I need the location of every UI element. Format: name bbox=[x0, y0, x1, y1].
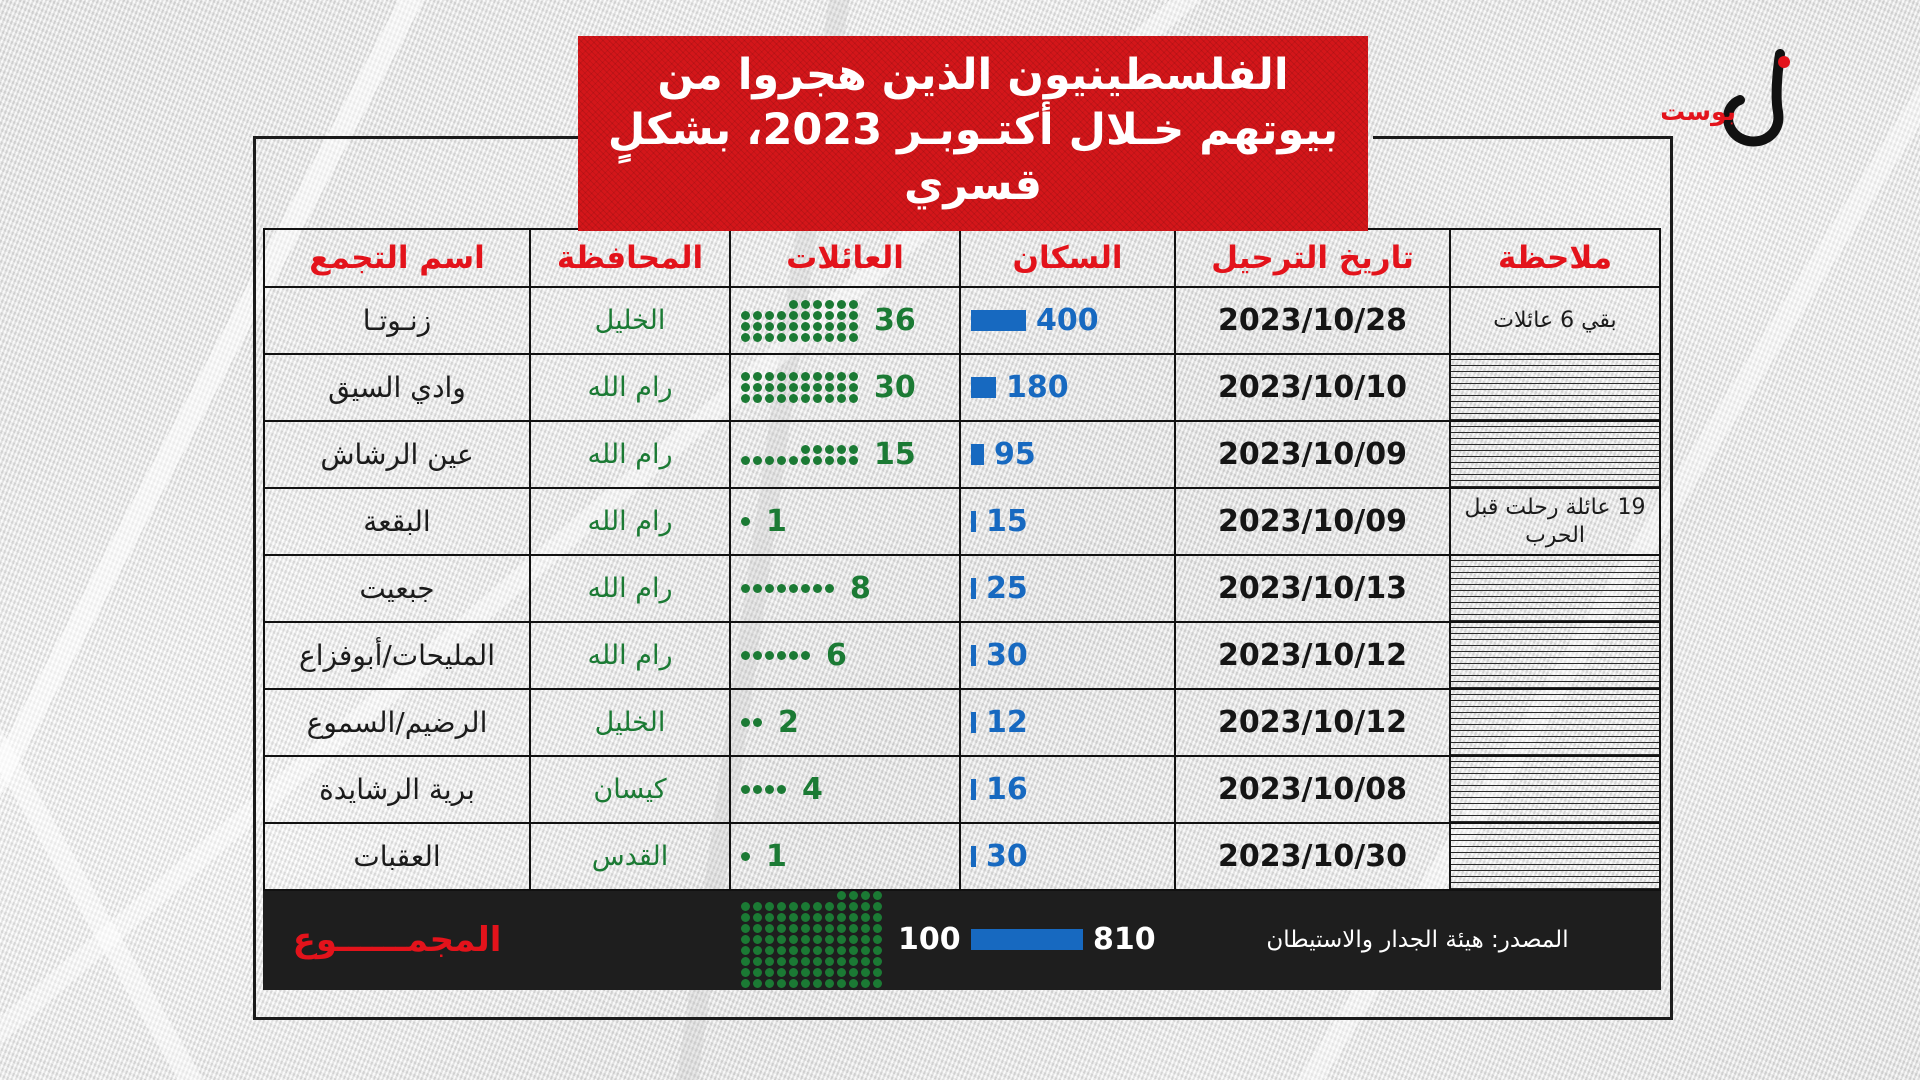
family-dot bbox=[813, 584, 822, 593]
cell-population: 95 bbox=[960, 421, 1175, 488]
cell-population: 30 bbox=[960, 823, 1175, 890]
family-dot bbox=[873, 957, 882, 966]
table-head: ملاحظة تاريخ الترحيل السكان العائلات الم… bbox=[264, 229, 1660, 287]
family-dot bbox=[849, 935, 858, 944]
table-row: 2023/10/1018030رام اللهوادي السيق bbox=[264, 354, 1660, 421]
cell-population: 180 bbox=[960, 354, 1175, 421]
family-dot bbox=[813, 456, 822, 465]
family-dot bbox=[825, 322, 834, 331]
family-dot bbox=[849, 957, 858, 966]
family-dot bbox=[753, 968, 762, 977]
cell-governorate: رام الله bbox=[530, 555, 730, 622]
cell-date: 2023/10/09 bbox=[1175, 421, 1450, 488]
family-dot bbox=[765, 322, 774, 331]
family-dot bbox=[789, 383, 798, 392]
dot-row bbox=[741, 902, 882, 911]
family-dot bbox=[861, 946, 870, 955]
family-dot bbox=[765, 957, 774, 966]
cell-families: 2 bbox=[730, 689, 960, 756]
cell-governorate: الخليل bbox=[530, 689, 730, 756]
family-dot bbox=[741, 517, 750, 526]
family-dot bbox=[789, 957, 798, 966]
family-dot bbox=[861, 913, 870, 922]
family-dot bbox=[825, 957, 834, 966]
family-dot bbox=[753, 383, 762, 392]
family-dot bbox=[873, 913, 882, 922]
family-dot bbox=[789, 913, 798, 922]
population-value: 12 bbox=[986, 705, 1040, 740]
cell-date: 2023/10/12 bbox=[1175, 622, 1450, 689]
cell-population: 30 bbox=[960, 622, 1175, 689]
cell-note bbox=[1450, 689, 1660, 756]
cell-governorate: رام الله bbox=[530, 354, 730, 421]
cell-note bbox=[1450, 354, 1660, 421]
family-dot bbox=[765, 333, 774, 342]
family-dot bbox=[873, 924, 882, 933]
families-dot-matrix bbox=[741, 300, 858, 342]
families-value: 30 bbox=[874, 370, 916, 405]
family-dot bbox=[825, 902, 834, 911]
family-dot bbox=[741, 957, 750, 966]
family-dot bbox=[741, 902, 750, 911]
table-row: 2023/10/12306رام اللهالمليحات/أبوفزاع bbox=[264, 622, 1660, 689]
family-dot bbox=[837, 394, 846, 403]
family-dot bbox=[741, 311, 750, 320]
dot-row bbox=[741, 913, 882, 922]
family-dot bbox=[837, 979, 846, 988]
family-dot bbox=[753, 913, 762, 922]
family-dot bbox=[849, 383, 858, 392]
family-dot bbox=[765, 383, 774, 392]
column-header-population: السكان bbox=[960, 229, 1175, 287]
family-dot bbox=[789, 456, 798, 465]
dot-row bbox=[741, 718, 762, 727]
population-bar bbox=[971, 846, 976, 867]
column-header-note: ملاحظة bbox=[1450, 229, 1660, 287]
family-dot bbox=[777, 913, 786, 922]
family-dot bbox=[837, 968, 846, 977]
column-header-locality: اسم التجمع bbox=[264, 229, 530, 287]
cell-governorate: رام الله bbox=[530, 421, 730, 488]
cell-governorate: الخليل bbox=[530, 287, 730, 354]
logo-word: بوست bbox=[1662, 97, 1736, 127]
family-dot bbox=[789, 333, 798, 342]
dot-row bbox=[741, 935, 882, 944]
cell-note: 19 عائلة رحلت قبل الحرب bbox=[1450, 488, 1660, 555]
cell-date: 2023/10/13 bbox=[1175, 555, 1450, 622]
family-dot bbox=[861, 957, 870, 966]
cell-families: 30 bbox=[730, 354, 960, 421]
family-dot bbox=[765, 935, 774, 944]
family-dot bbox=[825, 445, 834, 454]
population-value: 95 bbox=[994, 437, 1048, 472]
family-dot bbox=[789, 394, 798, 403]
family-dot bbox=[741, 383, 750, 392]
dot-row bbox=[741, 785, 786, 794]
family-dot bbox=[777, 456, 786, 465]
family-dot bbox=[765, 394, 774, 403]
family-dot bbox=[837, 322, 846, 331]
family-dot bbox=[873, 946, 882, 955]
family-dot bbox=[813, 935, 822, 944]
population-value: 180 bbox=[1006, 370, 1069, 405]
frame-top-right-segment bbox=[1373, 136, 1673, 139]
family-dot bbox=[861, 924, 870, 933]
family-dot bbox=[777, 968, 786, 977]
family-dot bbox=[777, 957, 786, 966]
family-dot bbox=[741, 372, 750, 381]
cell-locality: المليحات/أبوفزاع bbox=[264, 622, 530, 689]
family-dot bbox=[789, 924, 798, 933]
cell-governorate: رام الله bbox=[530, 488, 730, 555]
column-header-governorate: المحافظة bbox=[530, 229, 730, 287]
logo-icon: بوست bbox=[1662, 44, 1832, 164]
families-value: 1 bbox=[766, 504, 808, 539]
cell-families: 36 bbox=[730, 287, 960, 354]
cell-population: 400 bbox=[960, 287, 1175, 354]
cell-note bbox=[1450, 555, 1660, 622]
family-dot bbox=[849, 333, 858, 342]
family-dot bbox=[741, 946, 750, 955]
footer-empty-cell bbox=[530, 890, 730, 989]
population-bar bbox=[971, 712, 976, 733]
dot-row bbox=[741, 311, 858, 320]
family-dot bbox=[753, 957, 762, 966]
family-dot bbox=[741, 913, 750, 922]
dot-row bbox=[741, 584, 834, 593]
family-dot bbox=[741, 584, 750, 593]
families-value: 4 bbox=[802, 772, 844, 807]
population-value: 30 bbox=[986, 638, 1040, 673]
family-dot bbox=[813, 372, 822, 381]
cell-note: بقي 6 عائلات bbox=[1450, 287, 1660, 354]
cell-note bbox=[1450, 421, 1660, 488]
family-dot bbox=[753, 651, 762, 660]
family-dot bbox=[777, 394, 786, 403]
family-dot bbox=[825, 924, 834, 933]
population-value: 15 bbox=[986, 504, 1040, 539]
cell-families: 4 bbox=[730, 756, 960, 823]
family-dot bbox=[777, 311, 786, 320]
family-dot bbox=[861, 902, 870, 911]
family-dot bbox=[813, 924, 822, 933]
family-dot bbox=[741, 935, 750, 944]
page-title-text: الفلسطينيون الذين هجروا من بيوتهم خـلال … bbox=[608, 50, 1338, 210]
family-dot bbox=[837, 372, 846, 381]
family-dot bbox=[753, 333, 762, 342]
table-row: 2023/10/13258رام اللهجبعيت bbox=[264, 555, 1660, 622]
family-dot bbox=[801, 913, 810, 922]
family-dot bbox=[849, 445, 858, 454]
dot-row bbox=[741, 372, 858, 381]
family-dot bbox=[801, 322, 810, 331]
family-dot bbox=[837, 300, 846, 309]
table-row: بقي 6 عائلات2023/10/2840036الخليلزنـوتـا bbox=[264, 287, 1660, 354]
family-dot bbox=[753, 311, 762, 320]
families-value: 15 bbox=[874, 437, 916, 472]
family-dot bbox=[837, 445, 846, 454]
cell-date: 2023/10/09 bbox=[1175, 488, 1450, 555]
cell-note bbox=[1450, 823, 1660, 890]
table-row: 2023/10/30301القدسالعقبات bbox=[264, 823, 1660, 890]
cell-locality: وادي السيق bbox=[264, 354, 530, 421]
cell-governorate: كيسان bbox=[530, 756, 730, 823]
population-value: 400 bbox=[1036, 303, 1099, 338]
family-dot bbox=[837, 902, 846, 911]
family-dot bbox=[765, 311, 774, 320]
table-row: 19 عائلة رحلت قبل الحرب2023/10/09151رام … bbox=[264, 488, 1660, 555]
family-dot bbox=[765, 456, 774, 465]
population-bar bbox=[971, 779, 976, 800]
family-dot bbox=[777, 935, 786, 944]
families-dot-matrix bbox=[741, 584, 834, 593]
family-dot bbox=[765, 584, 774, 593]
family-dot bbox=[753, 718, 762, 727]
dot-row bbox=[741, 456, 858, 465]
brand-logo: بوست bbox=[1662, 44, 1832, 164]
family-dot bbox=[837, 891, 846, 900]
family-dot bbox=[849, 300, 858, 309]
family-dot bbox=[777, 333, 786, 342]
family-dot bbox=[825, 913, 834, 922]
family-dot bbox=[753, 946, 762, 955]
dot-row bbox=[741, 968, 882, 977]
table-footer-row: المصدر: هيئة الجدار والاستيطان 810 100 ا… bbox=[264, 890, 1660, 989]
family-dot bbox=[813, 913, 822, 922]
family-dot bbox=[801, 902, 810, 911]
family-dot bbox=[753, 935, 762, 944]
families-dot-matrix bbox=[741, 445, 858, 465]
cell-locality: البقعة bbox=[264, 488, 530, 555]
family-dot bbox=[813, 394, 822, 403]
dot-row bbox=[741, 957, 882, 966]
family-dot bbox=[777, 785, 786, 794]
family-dot bbox=[849, 913, 858, 922]
family-dot bbox=[813, 979, 822, 988]
families-value: 8 bbox=[850, 571, 892, 606]
family-dot bbox=[813, 957, 822, 966]
family-dot bbox=[849, 924, 858, 933]
cell-locality: الرضيم/السموع bbox=[264, 689, 530, 756]
cell-locality: برية الرشايدة bbox=[264, 756, 530, 823]
families-dot-matrix bbox=[741, 651, 810, 660]
family-dot bbox=[765, 968, 774, 977]
family-dot bbox=[801, 968, 810, 977]
source-note: المصدر: هيئة الجدار والاستيطان bbox=[1175, 890, 1660, 989]
footer-total-label: المجمــــــوع bbox=[264, 890, 530, 989]
dot-row bbox=[741, 924, 882, 933]
family-dot bbox=[801, 924, 810, 933]
cell-locality: جبعيت bbox=[264, 555, 530, 622]
cell-note bbox=[1450, 622, 1660, 689]
cell-locality: عين الرشاش bbox=[264, 421, 530, 488]
cell-date: 2023/10/12 bbox=[1175, 689, 1450, 756]
family-dot bbox=[801, 300, 810, 309]
population-bar bbox=[971, 377, 996, 398]
families-value: 36 bbox=[874, 303, 916, 338]
family-dot bbox=[849, 311, 858, 320]
family-dot bbox=[801, 979, 810, 988]
family-dot bbox=[777, 372, 786, 381]
dot-row bbox=[741, 333, 858, 342]
family-dot bbox=[825, 946, 834, 955]
family-dot bbox=[813, 322, 822, 331]
family-dot bbox=[765, 924, 774, 933]
cell-families: 15 bbox=[730, 421, 960, 488]
dot-row bbox=[741, 394, 858, 403]
family-dot bbox=[825, 979, 834, 988]
family-dot bbox=[765, 979, 774, 988]
family-dot bbox=[741, 785, 750, 794]
family-dot bbox=[741, 456, 750, 465]
cell-date: 2023/10/08 bbox=[1175, 756, 1450, 823]
family-dot bbox=[813, 968, 822, 977]
family-dot bbox=[873, 979, 882, 988]
footer-total-population-cell: 810 bbox=[960, 890, 1175, 989]
families-value: 6 bbox=[826, 638, 868, 673]
table-body: بقي 6 عائلات2023/10/2840036الخليلزنـوتـا… bbox=[264, 287, 1660, 890]
family-dot bbox=[837, 924, 846, 933]
family-dot bbox=[849, 322, 858, 331]
data-table-wrapper: ملاحظة تاريخ الترحيل السكان العائلات الم… bbox=[265, 228, 1661, 990]
dot-row bbox=[741, 979, 882, 988]
displacement-table: ملاحظة تاريخ الترحيل السكان العائلات الم… bbox=[263, 228, 1661, 990]
cell-governorate: رام الله bbox=[530, 622, 730, 689]
family-dot bbox=[777, 651, 786, 660]
cell-date: 2023/10/28 bbox=[1175, 287, 1450, 354]
family-dot bbox=[801, 946, 810, 955]
page-title: الفلسطينيون الذين هجروا من بيوتهم خـلال … bbox=[578, 36, 1368, 231]
cell-families: 1 bbox=[730, 823, 960, 890]
family-dot bbox=[753, 394, 762, 403]
family-dot bbox=[861, 935, 870, 944]
family-dot bbox=[837, 456, 846, 465]
family-dot bbox=[801, 333, 810, 342]
family-dot bbox=[789, 651, 798, 660]
family-dot bbox=[789, 300, 798, 309]
dot-row bbox=[801, 445, 858, 454]
table-row: 2023/10/12122الخليلالرضيم/السموع bbox=[264, 689, 1660, 756]
family-dot bbox=[765, 913, 774, 922]
family-dot bbox=[849, 979, 858, 988]
family-dot bbox=[753, 924, 762, 933]
cell-population: 16 bbox=[960, 756, 1175, 823]
family-dot bbox=[801, 935, 810, 944]
table-foot: المصدر: هيئة الجدار والاستيطان 810 100 ا… bbox=[264, 890, 1660, 989]
cell-families: 6 bbox=[730, 622, 960, 689]
family-dot bbox=[765, 785, 774, 794]
family-dot bbox=[789, 322, 798, 331]
family-dot bbox=[837, 913, 846, 922]
family-dot bbox=[753, 584, 762, 593]
family-dot bbox=[837, 311, 846, 320]
cell-date: 2023/10/30 bbox=[1175, 823, 1450, 890]
family-dot bbox=[753, 456, 762, 465]
cell-governorate: القدس bbox=[530, 823, 730, 890]
family-dot bbox=[789, 935, 798, 944]
family-dot bbox=[753, 979, 762, 988]
families-value: 2 bbox=[778, 705, 820, 740]
family-dot bbox=[789, 372, 798, 381]
family-dot bbox=[741, 718, 750, 727]
family-dot bbox=[741, 333, 750, 342]
family-dot bbox=[813, 445, 822, 454]
cell-population: 25 bbox=[960, 555, 1175, 622]
family-dot bbox=[825, 584, 834, 593]
families-dot-matrix bbox=[741, 785, 786, 794]
family-dot bbox=[837, 383, 846, 392]
population-value: 25 bbox=[986, 571, 1040, 606]
dot-row bbox=[741, 946, 882, 955]
family-dot bbox=[741, 394, 750, 403]
family-dot bbox=[849, 394, 858, 403]
family-dot bbox=[825, 311, 834, 320]
families-dot-matrix bbox=[741, 852, 750, 861]
family-dot bbox=[873, 935, 882, 944]
dot-row bbox=[789, 300, 858, 309]
footer-total-families-value: 100 bbox=[898, 922, 945, 957]
family-dot bbox=[873, 968, 882, 977]
family-dot bbox=[801, 394, 810, 403]
families-value: 1 bbox=[766, 839, 808, 874]
cell-families: 1 bbox=[730, 488, 960, 555]
population-value: 16 bbox=[986, 772, 1040, 807]
family-dot bbox=[741, 968, 750, 977]
family-dot bbox=[789, 968, 798, 977]
family-dot bbox=[765, 372, 774, 381]
family-dot bbox=[825, 372, 834, 381]
family-dot bbox=[837, 957, 846, 966]
family-dot bbox=[789, 979, 798, 988]
family-dot bbox=[765, 946, 774, 955]
dot-row bbox=[837, 891, 882, 900]
family-dot bbox=[801, 651, 810, 660]
families-dot-matrix bbox=[741, 372, 858, 403]
table-row: 2023/10/08164كيسانبرية الرشايدة bbox=[264, 756, 1660, 823]
family-dot bbox=[789, 902, 798, 911]
family-dot bbox=[837, 935, 846, 944]
cell-locality: زنـوتـا bbox=[264, 287, 530, 354]
cell-locality: العقبات bbox=[264, 823, 530, 890]
family-dot bbox=[801, 584, 810, 593]
family-dot bbox=[777, 946, 786, 955]
family-dot bbox=[861, 979, 870, 988]
family-dot bbox=[813, 383, 822, 392]
family-dot bbox=[813, 946, 822, 955]
footer-population-bar bbox=[971, 929, 1083, 950]
footer-total-population-value: 810 bbox=[1093, 922, 1156, 957]
family-dot bbox=[873, 902, 882, 911]
family-dot bbox=[825, 394, 834, 403]
population-bar bbox=[971, 578, 976, 599]
family-dot bbox=[873, 891, 882, 900]
family-dot bbox=[813, 300, 822, 309]
family-dot bbox=[741, 651, 750, 660]
family-dot bbox=[765, 651, 774, 660]
population-bar bbox=[971, 310, 1026, 331]
family-dot bbox=[813, 902, 822, 911]
family-dot bbox=[825, 935, 834, 944]
family-dot bbox=[801, 957, 810, 966]
family-dot bbox=[777, 979, 786, 988]
family-dot bbox=[777, 383, 786, 392]
family-dot bbox=[753, 785, 762, 794]
family-dot bbox=[753, 372, 762, 381]
frame-top-left-segment bbox=[253, 136, 633, 139]
family-dot bbox=[741, 924, 750, 933]
population-value: 30 bbox=[986, 839, 1040, 874]
family-dot bbox=[789, 584, 798, 593]
